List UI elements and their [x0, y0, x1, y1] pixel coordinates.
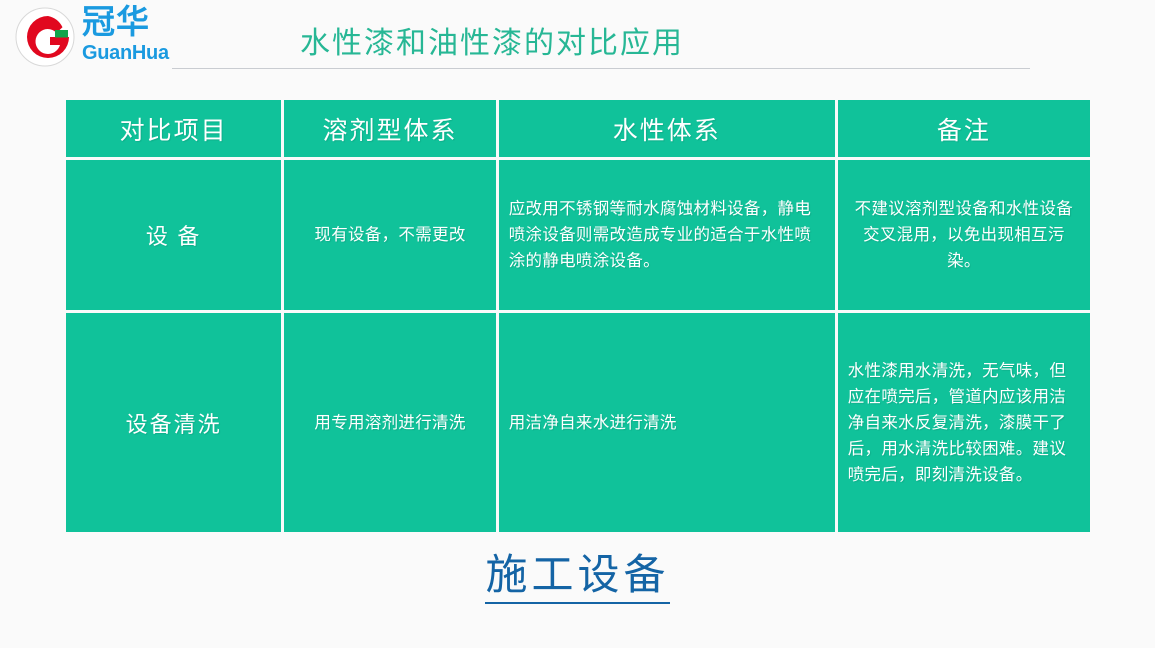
cell-equipment-waterborne: 应改用不锈钢等耐水腐蚀材料设备，静电喷涂设备则需改造成专业的适合于水性喷涂的静电…: [499, 160, 835, 310]
comparison-table: 对比项目 溶剂型体系 水性体系 备注 设 备 现有设备，不需更改 应改用不锈钢等…: [66, 100, 1090, 532]
cell-cleaning-solvent: 用专用溶剂进行清洗: [284, 313, 495, 532]
title-divider: [172, 68, 1030, 69]
column-header-waterborne: 水性体系: [499, 100, 835, 157]
footer-heading-text: 施工设备: [485, 552, 669, 604]
column-header-solvent: 溶剂型体系: [284, 100, 495, 157]
brand-name-block: 冠华 GuanHua: [82, 5, 192, 69]
cell-cleaning-waterborne: 用洁净自来水进行清洗: [499, 313, 835, 532]
brand-logo: 冠华 GuanHua: [8, 4, 190, 70]
page-title: 水性漆和油性漆的对比应用: [300, 18, 684, 62]
brand-name-cn: 冠华: [82, 5, 192, 41]
cell-cleaning-remark: 水性漆用水清洗，无气味，但应在喷完后，管道内应该用洁净自来水反复清洗，漆膜干了后…: [838, 313, 1090, 532]
table-header-row: 对比项目 溶剂型体系 水性体系 备注: [66, 100, 1090, 157]
table-row: 设 备 现有设备，不需更改 应改用不锈钢等耐水腐蚀材料设备，静电喷涂设备则需改造…: [66, 160, 1090, 310]
cell-equipment-remark: 不建议溶剂型设备和水性设备交叉混用，以免出现相互污染。: [838, 160, 1090, 310]
cell-equipment-solvent: 现有设备，不需更改: [284, 160, 495, 310]
brand-name-en: GuanHua: [82, 41, 192, 65]
column-header-item: 对比项目: [66, 100, 281, 157]
table-row: 设备清洗 用专用溶剂进行清洗 用洁净自来水进行清洗 水性漆用水清洗，无气味，但应…: [66, 313, 1090, 532]
slide-header: 冠华 GuanHua 水性漆和油性漆的对比应用: [0, 0, 1155, 88]
row-label-equipment-cleaning: 设备清洗: [66, 313, 281, 532]
row-label-equipment: 设 备: [66, 160, 281, 310]
column-header-remark: 备注: [838, 100, 1090, 157]
footer-heading: 施工设备: [0, 552, 1155, 604]
guanhua-circle-g-logo-icon: [14, 6, 76, 68]
